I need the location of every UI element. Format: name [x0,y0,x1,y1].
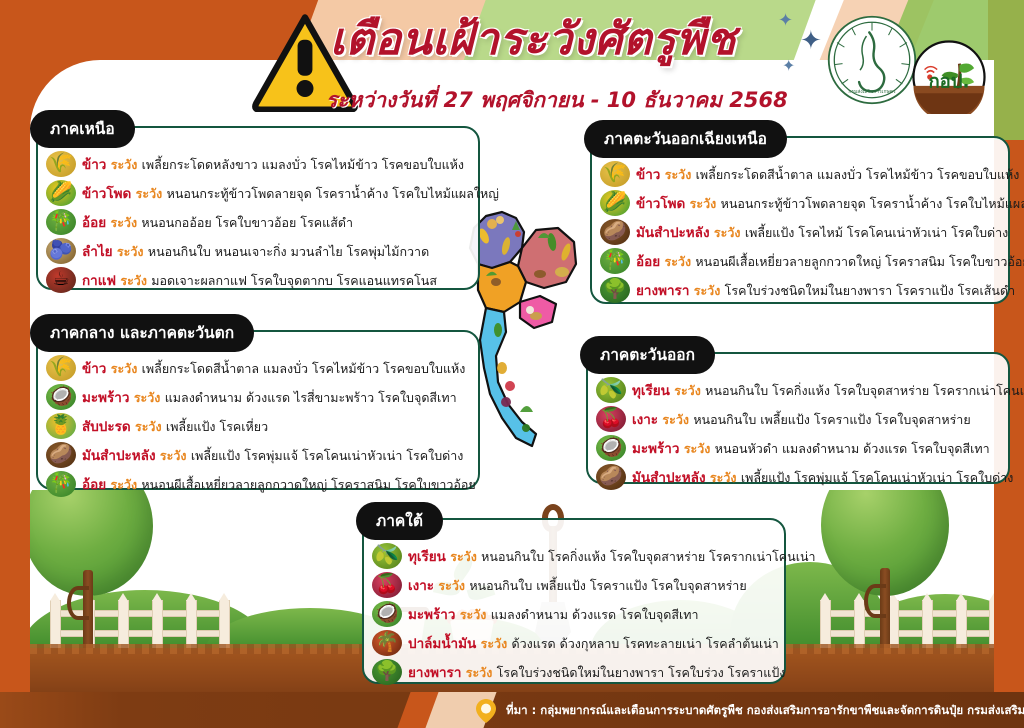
crop-description: ข้าว ระวัง เพลี้ยกระโดดสีน้ำตาล แมลงบั่ว… [636,163,1019,185]
rice-icon: 🌾 [46,355,76,381]
crop-description: เงาะ ระวัง หนอนกินใบ เพลี้ยแป้ง โรคราแป้… [408,574,747,596]
crop-name: ข้าวโพด [636,196,685,212]
region-title-northeast: ภาคตะวันออกเฉียงเหนือ [584,120,787,158]
longan-icon: 🫐 [46,238,76,264]
crop-description: สับปะรด ระวัง เพลี้ยแป้ง โรคเหี่ยว [82,415,268,437]
pineapple-icon: 🍍 [46,413,76,439]
svg-text:กอป.: กอป. [928,71,969,92]
crop-watch-label: ระวัง [658,412,693,427]
crop-pest-list: เพลี้ยแป้ง โรคพุ่มแจ้ โรคโคนเน่าหัวเน่า … [741,470,1014,485]
crop-pest-list: โรคใบร่วงชนิดใหม่ในยางพารา โรคใบร่วง โรค… [497,665,786,680]
crop-list-east: 🫒ทุเรียน ระวัง หนอนกินใบ โรคกิ่งแห้ง โรค… [588,354,1008,500]
region-title-north: ภาคเหนือ [30,110,135,148]
region-title-south: ภาคใต้ [356,502,443,540]
crop-pest-list: หนอนกินใบ โรคกิ่งแห้ง โรคใบจุดสาหร่าย โร… [705,383,1024,398]
crop-pest-list: ด้วงแรด ด้วงกุหลาบ โรคทะลายเน่า โรคลำต้น… [512,636,779,651]
crop-name: สับปะรด [82,419,131,435]
crop-description: ทุเรียน ระวัง หนอนกินใบ โรคกิ่งแห้ง โรคใ… [408,545,816,567]
crop-watch-label: ระวัง [106,361,141,376]
region-box-northeast: ภาคตะวันออกเฉียงเหนือ 🌾ข้าว ระวัง เพลี้ย… [590,136,1010,304]
crop-pest-list: แมลงดำหนาม ด้วงแรด ไรสี่ขามะพร้าว โรคใบจ… [165,390,457,405]
rubber-icon: 🌳 [372,659,402,685]
crop-description: มันสำปะหลัง ระวัง เพลี้ยแป้ง โรคพุ่มแจ้ … [632,466,1013,488]
location-pin-icon [476,699,496,723]
crop-watch-label: ระวัง [116,273,151,288]
crop-watch-label: ระวัง [131,419,166,434]
crop-pest-list: หนอนหัวดำ แมลงดำหนาม ด้วงแรด โรคใบจุดสีเ… [715,441,990,456]
crop-pest-list: หนอนกออ้อย โรคใบขาวอ้อย โรคแส้ดำ [141,215,353,230]
crop-pest-list: หนอนผีเสื้อเหยี่ยวลายลูกกวาดใหญ่ โรคราสน… [695,254,1024,269]
crop-name: ข้าว [636,167,660,183]
crop-pest-list: หนอนกินใบ เพลี้ยแป้ง โรคราแป้ง โรคใบจุดส… [469,578,746,593]
crop-watch-label: ระวัง [446,549,481,564]
crop-watch-label: ระวัง [156,448,191,463]
crop-pest-list: เพลี้ยกระโดดสีน้ำตาล แมลงบั่ว โรคไหม้ข้า… [142,361,466,376]
durian-icon: 🫒 [372,543,402,569]
crop-watch-label: ระวัง [679,441,714,456]
crop-name: มะพร้าว [408,607,455,623]
crop-pest-list: หนอนกินใบ เพลี้ยแป้ง โรคราแป้ง โรคใบจุดส… [693,412,970,427]
region-title-central: ภาคกลาง และภาคตะวันตก [30,314,254,352]
crop-name: ข้าวโพด [82,186,131,202]
crop-list-central: 🌾ข้าว ระวัง เพลี้ยกระโดดสีน้ำตาล แมลงบั่… [38,332,478,507]
rambutan-icon: 🍒 [596,406,626,432]
crop-watch-label: ระวัง [706,470,741,485]
date-range: ระหว่างวันที่ 27 พฤศจิกายน - 10 ธันวาคม … [326,84,796,117]
crop-description: ยางพารา ระวัง โรคใบร่วงชนิดใหม่ในยางพารา… [408,661,785,683]
crop-pest-list: เพลี้ยแป้ง โรคเหี่ยว [166,419,268,434]
crop-watch-label: ระวัง [455,607,490,622]
crop-name: ลำไย [82,244,113,260]
pest-warning-poster: เตือนเฝ้าระวังศัตรูพืช ระหว่างวันที่ 27 … [0,0,1024,728]
crop-pest-list: เพลี้ยกระโดดหลังขาว แมลงบั่ว โรคไหม้ข้าว… [142,157,464,172]
rubber-icon: 🌳 [600,277,630,303]
kob-logo: กอป. [912,40,986,114]
corn-icon: 🌽 [600,190,630,216]
crop-row: 🥥มะพร้าว ระวัง แมลงดำหนาม ด้วงแรด ไรสี่ข… [46,383,468,410]
crop-watch-label: ระวัง [129,390,164,405]
crop-pest-list: แมลงดำหนาม ด้วงแรด โรคใบจุดสีเทา [491,607,699,622]
sparkle-icon: ✦ [800,26,822,56]
crop-name: อ้อย [82,477,106,493]
durian-icon: 🫒 [596,377,626,403]
crop-row: 🎋อ้อย ระวัง หนอนผีเสื้อเหยี่ยวลายลูกกวาด… [46,470,468,497]
crop-list-northeast: 🌾ข้าว ระวัง เพลี้ยกระโดดสีน้ำตาล แมลงบั่… [592,138,1008,313]
corn-icon: 🌽 [46,180,76,206]
crop-name: อ้อย [636,254,660,270]
crop-row: 🌽ข้าวโพด ระวัง หนอนกระทู้ข้าวโพดลายจุด โ… [46,179,468,206]
crop-name: มันสำปะหลัง [632,470,706,486]
crop-row: 🍍สับปะรด ระวัง เพลี้ยแป้ง โรคเหี่ยว [46,412,468,439]
crop-description: ทุเรียน ระวัง หนอนกินใบ โรคกิ่งแห้ง โรคใ… [632,379,1024,401]
crop-watch-label: ระวัง [685,196,720,211]
crop-pest-list: มอดเจาะผลกาแฟ โรคใบจุดตากบ โรคแอนแทรคโนส [151,273,437,288]
crop-description: ยางพารา ระวัง โรคใบร่วงชนิดใหม่ในยางพารา… [636,279,1015,301]
crop-name: กาแฟ [82,273,116,289]
page-title: เตือนเฝ้าระวังศัตรูพืช [330,14,800,66]
crop-row: 🌾ข้าว ระวัง เพลี้ยกระโดดสีน้ำตาล แมลงบั่… [46,354,468,381]
oilpalm-icon: 🌴 [372,630,402,656]
crop-pest-list: เพลี้ยกระโดดสีน้ำตาล แมลงบั่ว โรคไหม้ข้า… [696,167,1020,182]
crop-name: ข้าว [82,361,106,377]
crop-pest-list: โรคใบร่วงชนิดใหม่ในยางพารา โรคราแป้ง โรค… [725,283,1015,298]
crop-description: ข้าว ระวัง เพลี้ยกระโดดหลังขาว แมลงบั่ว … [82,153,464,175]
coconut-icon: 🥥 [596,435,626,461]
crop-name: เงาะ [408,578,434,594]
crop-name: อ้อย [82,215,106,231]
crop-watch-label: ระวัง [660,167,695,182]
crop-watch-label: ระวัง [131,186,166,201]
crop-row: 🥥มะพร้าว ระวัง แมลงดำหนาม ด้วงแรด โรคใบจ… [372,600,774,627]
sugarcane-icon: 🎋 [600,248,630,274]
crop-description: มะพร้าว ระวัง แมลงดำหนาม ด้วงแรด ไรสี่ขา… [82,386,457,408]
crop-watch-label: ระวัง [670,383,705,398]
crop-name: ทุเรียน [632,383,670,399]
crop-row: 🌽ข้าวโพด ระวัง หนอนกระทู้ข้าวโพดลายจุด โ… [600,189,998,216]
crop-row: 🎋อ้อย ระวัง หนอนผีเสื้อเหยี่ยวลายลูกกวาด… [600,247,998,274]
crop-description: อ้อย ระวัง หนอนกออ้อย โรคใบขาวอ้อย โรคแส… [82,211,353,233]
crop-row: 🍒เงาะ ระวัง หนอนกินใบ เพลี้ยแป้ง โรคราแป… [596,405,998,432]
rice-icon: 🌾 [46,151,76,177]
crop-pest-list: หนอนกินใบ หนอนเจาะกิ่ง มวนลำไย โรคพุ่มไม… [148,244,429,259]
crop-description: มันสำปะหลัง ระวัง เพลี้ยแป้ง โรคพุ่มแจ้ … [82,444,463,466]
crop-description: ข้าวโพด ระวัง หนอนกระทู้ข้าวโพดลายจุด โร… [82,182,499,204]
crop-pest-list: หนอนกระทู้ข้าวโพดลายจุด โรคราน้ำค้าง โรค… [721,196,1024,211]
crop-row: 🥔มันสำปะหลัง ระวัง เพลี้ยแป้ง โรคไหม้ โร… [600,218,998,245]
crop-watch-label: ระวัง [476,636,511,651]
crop-description: กาแฟ ระวัง มอดเจาะผลกาแฟ โรคใบจุดตากบ โร… [82,269,437,291]
crop-name: มะพร้าว [632,441,679,457]
crop-description: เงาะ ระวัง หนอนกินใบ เพลี้ยแป้ง โรคราแป้… [632,408,971,430]
crop-row: 🍒เงาะ ระวัง หนอนกินใบ เพลี้ยแป้ง โรคราแป… [372,571,774,598]
crop-description: อ้อย ระวัง หนอนผีเสื้อเหยี่ยวลายลูกกวาดใ… [636,250,1024,272]
rice-icon: 🌾 [600,161,630,187]
region-box-south: ภาคใต้ 🫒ทุเรียน ระวัง หนอนกินใบ โรคกิ่งแ… [362,518,786,684]
region-box-north: ภาคเหนือ 🌾ข้าว ระวัง เพลี้ยกระโดดหลังขาว… [36,126,480,290]
crop-pest-list: หนอนกินใบ โรคกิ่งแห้ง โรคใบจุดสาหร่าย โร… [481,549,815,564]
coffee-icon: ☕ [46,267,76,293]
crop-row: 🫐ลำไย ระวัง หนอนกินใบ หนอนเจาะกิ่ง มวนลำ… [46,237,468,264]
crop-row: 🫒ทุเรียน ระวัง หนอนกินใบ โรคกิ่งแห้ง โรค… [372,542,774,569]
crop-name: มันสำปะหลัง [82,448,156,464]
footer-bar: ที่มา : กลุ่มพยากรณ์และเตือนการระบาดศัตร… [0,692,1024,728]
crop-row: ☕กาแฟ ระวัง มอดเจาะผลกาแฟ โรคใบจุดตากบ โ… [46,266,468,293]
crop-row: 🌾ข้าว ระวัง เพลี้ยกระโดดสีน้ำตาล แมลงบั่… [600,160,998,187]
crop-watch-label: ระวัง [106,477,141,492]
crop-watch-label: ระวัง [660,254,695,269]
coconut-icon: 🥥 [46,384,76,410]
cassava-icon: 🥔 [46,442,76,468]
crop-description: มะพร้าว ระวัง หนอนหัวดำ แมลงดำหนาม ด้วงแ… [632,437,990,459]
crop-watch-label: ระวัง [113,244,148,259]
sugarcane-icon: 🎋 [46,209,76,235]
crop-description: มะพร้าว ระวัง แมลงดำหนาม ด้วงแรด โรคใบจุ… [408,603,698,625]
crop-pest-list: เพลี้ยแป้ง โรคพุ่มแจ้ โรคโคนเน่าหัวเน่า … [191,448,464,463]
crop-watch-label: ระวัง [434,578,469,593]
crop-name: ยางพารา [636,283,689,299]
crop-row: 🥔มันสำปะหลัง ระวัง เพลี้ยแป้ง โรคพุ่มแจ้… [596,463,998,490]
crop-list-south: 🫒ทุเรียน ระวัง หนอนกินใบ โรคกิ่งแห้ง โรค… [364,520,784,695]
crop-row: 🌾ข้าว ระวัง เพลี้ยกระโดดหลังขาว แมลงบั่ว… [46,150,468,177]
crop-row: 🫒ทุเรียน ระวัง หนอนกินใบ โรคกิ่งแห้ง โรค… [596,376,998,403]
cassava-icon: 🥔 [600,219,630,245]
crop-row: 🎋อ้อย ระวัง หนอนกออ้อย โรคใบขาวอ้อย โรคแ… [46,208,468,235]
footer-source-text: ที่มา : กลุ่มพยากรณ์และเตือนการระบาดศัตร… [506,702,1024,720]
sparkle-icon: ✦ [782,56,795,75]
crop-name: มันสำปะหลัง [636,225,710,241]
svg-text:กรมส่งเสริมการเกษตร: กรมส่งเสริมการเกษตร [848,89,896,95]
crop-watch-label: ระวัง [710,225,745,240]
sugarcane-icon: 🎋 [46,471,76,497]
crop-description: ข้าวโพด ระวัง หนอนกระทู้ข้าวโพดลายจุด โร… [636,192,1024,214]
crop-watch-label: ระวัง [106,157,141,172]
crop-pest-list: หนอนผีเสื้อเหยี่ยวลายลูกกวาดใหญ่ โรคราสน… [141,477,475,492]
crop-description: ลำไย ระวัง หนอนกินใบ หนอนเจาะกิ่ง มวนลำไ… [82,240,429,262]
crop-row: 🥔มันสำปะหลัง ระวัง เพลี้ยแป้ง โรคพุ่มแจ้… [46,441,468,468]
crop-description: มันสำปะหลัง ระวัง เพลี้ยแป้ง โรคไหม้ โรค… [636,221,1008,243]
region-box-east: ภาคตะวันออก 🫒ทุเรียน ระวัง หนอนกินใบ โรค… [586,352,1010,484]
crop-name: ปาล์มน้ำมัน [408,636,476,652]
crop-list-north: 🌾ข้าว ระวัง เพลี้ยกระโดดหลังขาว แมลงบั่ว… [38,128,478,303]
crop-row: 🌳ยางพารา ระวัง โรคใบร่วงชนิดใหม่ในยางพาร… [600,276,998,303]
crop-description: ปาล์มน้ำมัน ระวัง ด้วงแรด ด้วงกุหลาบ โรค… [408,632,779,654]
crop-name: มะพร้าว [82,390,129,406]
crop-name: เงาะ [632,412,658,428]
crop-description: ข้าว ระวัง เพลี้ยกระโดดสีน้ำตาล แมลงบั่ว… [82,357,465,379]
region-title-east: ภาคตะวันออก [580,336,715,374]
crop-pest-list: หนอนกระทู้ข้าวโพดลายจุด โรคราน้ำค้าง โรค… [167,186,499,201]
crop-watch-label: ระวัง [461,665,496,680]
coconut-icon: 🥥 [372,601,402,627]
department-seal-logo: กรมส่งเสริมการเกษตร [826,14,918,106]
crop-name: ทุเรียน [408,549,446,565]
cassava-icon: 🥔 [596,464,626,490]
crop-name: ยางพารา [408,665,461,681]
crop-row: 🌳ยางพารา ระวัง โรคใบร่วงชนิดใหม่ในยางพาร… [372,658,774,685]
rambutan-icon: 🍒 [372,572,402,598]
crop-row: 🌴ปาล์มน้ำมัน ระวัง ด้วงแรด ด้วงกุหลาบ โร… [372,629,774,656]
crop-description: อ้อย ระวัง หนอนผีเสื้อเหยี่ยวลายลูกกวาดใ… [82,473,476,495]
crop-name: ข้าว [82,157,106,173]
crop-pest-list: เพลี้ยแป้ง โรคไหม้ โรคโคนเน่าหัวเน่า โรค… [745,225,1008,240]
sparkle-icon: ✦ [778,10,793,31]
crop-watch-label: ระวัง [689,283,724,298]
crop-row: 🥥มะพร้าว ระวัง หนอนหัวดำ แมลงดำหนาม ด้วง… [596,434,998,461]
region-box-central: ภาคกลาง และภาคตะวันตก 🌾ข้าว ระวัง เพลี้ย… [36,330,480,490]
crop-watch-label: ระวัง [106,215,141,230]
